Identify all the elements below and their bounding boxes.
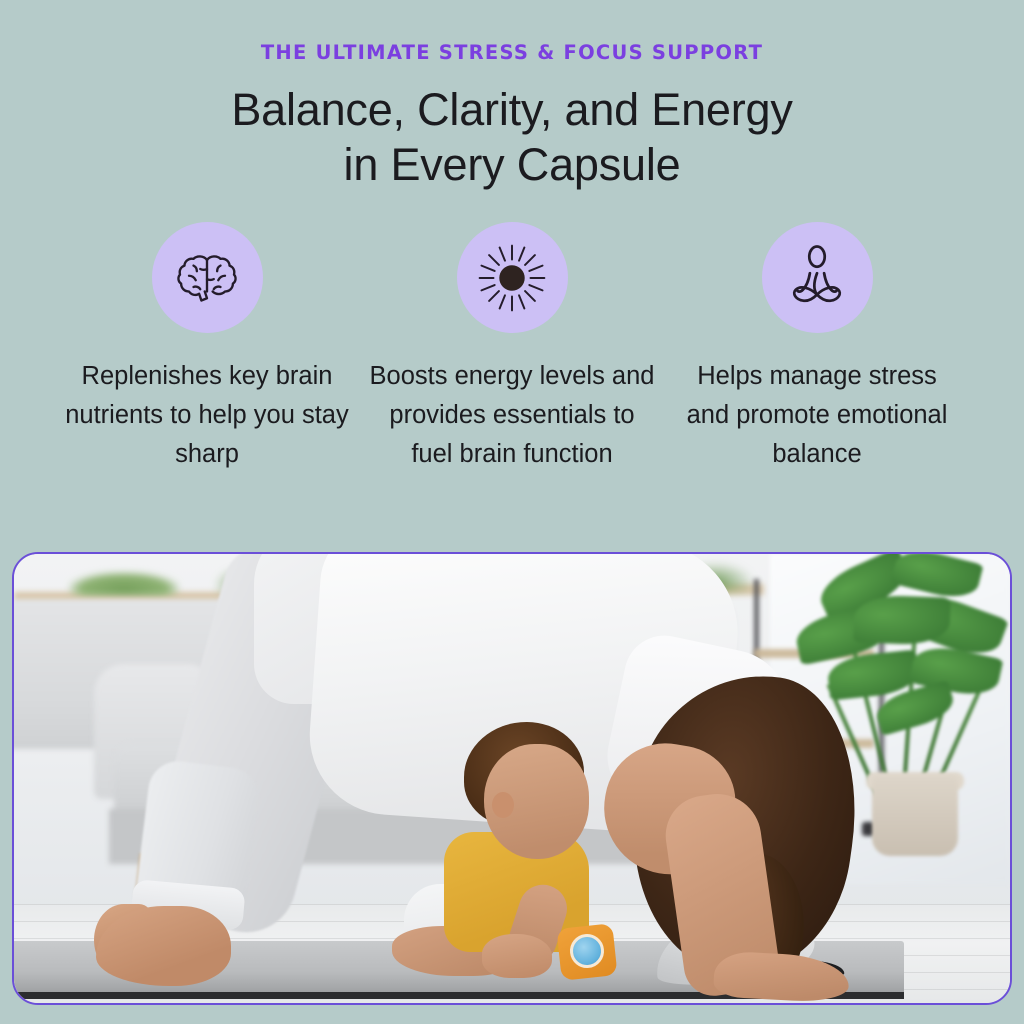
baby-foot — [482, 934, 552, 978]
benefit-item-energy: Boosts energy levels and provides essent… — [360, 222, 665, 474]
benefit-item-brain: Replenishes key brain nutrients to help … — [55, 222, 360, 474]
hero-photo — [14, 554, 1010, 1003]
headline-line-2: in Every Capsule — [0, 137, 1024, 192]
sun-icon — [457, 222, 568, 333]
headline-line-1: Balance, Clarity, and Energy — [0, 82, 1024, 137]
benefit-item-stress: Helps manage stress and promote emotiona… — [665, 222, 970, 474]
benefit-text-stress: Helps manage stress and promote emotiona… — [675, 357, 960, 474]
brain-icon — [152, 222, 263, 333]
benefits-row: Replenishes key brain nutrients to help … — [0, 222, 1024, 474]
benefit-text-energy: Boosts energy levels and provides essent… — [370, 357, 655, 474]
promo-graphic: THE ULTIMATE STRESS & FOCUS SUPPORT Bala… — [0, 0, 1024, 1024]
hero-photo-frame — [12, 552, 1012, 1005]
page-title: Balance, Clarity, and Energy in Every Ca… — [0, 82, 1024, 192]
eyebrow-text: THE ULTIMATE STRESS & FOCUS SUPPORT — [0, 41, 1024, 64]
plant-pot — [872, 776, 958, 856]
shelf-plant-icon — [69, 572, 179, 596]
meditation-icon — [762, 222, 873, 333]
benefit-text-brain: Replenishes key brain nutrients to help … — [65, 357, 350, 474]
baby-ear — [492, 792, 514, 818]
